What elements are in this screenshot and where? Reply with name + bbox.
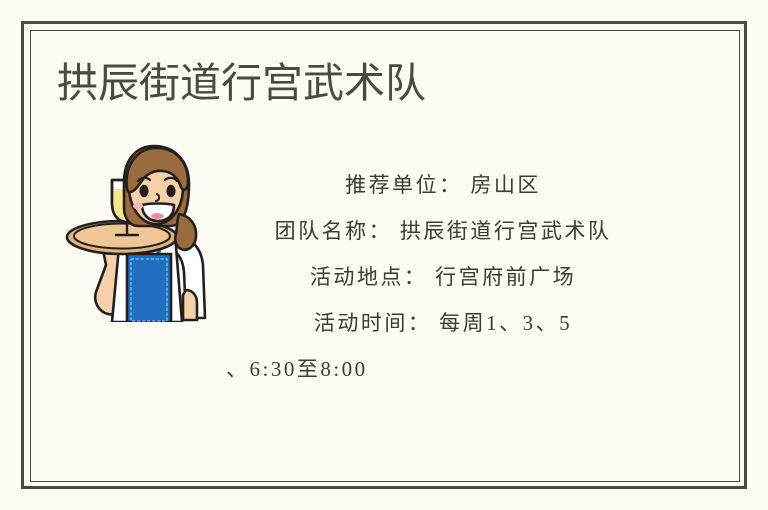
detail-line-recommending-unit: 推荐单位： 房山区 [226,162,660,208]
waitress-with-tray-illustration [50,140,222,322]
page-title: 拱辰街道行宫武术队 [57,60,426,107]
detail-line-activity-location: 活动地点： 行宫府前广场 [226,254,660,300]
detail-line-team-name: 团队名称： 拱辰街道行宫武术队 [226,208,660,254]
detail-line-activity-time-cont: 、6:30至8:00 [226,346,660,392]
info-card: 拱辰街道行宫武术队 [0,0,768,510]
detail-line-activity-time: 活动时间： 每周1、3、5 [226,300,660,346]
detail-text-block: 推荐单位： 房山区 团队名称： 拱辰街道行宫武术队 活动地点： 行宫府前广场 活… [226,162,660,392]
